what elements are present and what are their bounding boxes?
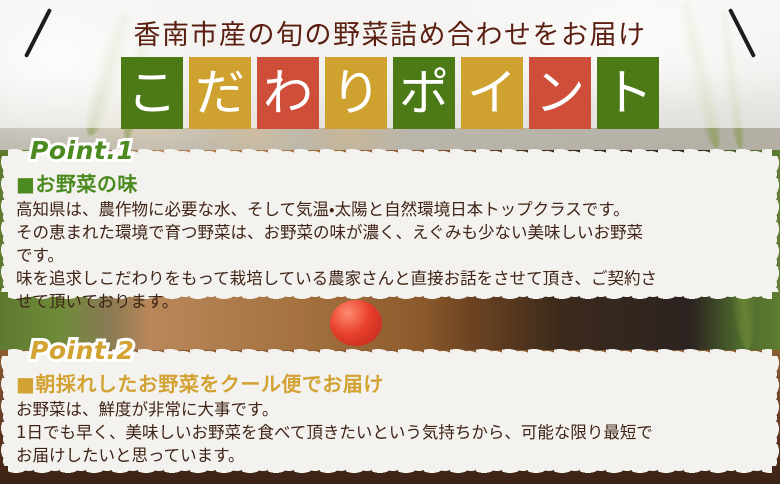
body-line-3: 味を追求しこだわりをもって栽培している農家さんと直接お話をさせて頂き、ご契約さ [16,267,768,290]
title-tile-7: ト [597,57,659,129]
body-line-0: 高知県は、農作物に必要な水、そして気温・太陽と自然環境日本トップクラスです。 [16,198,768,221]
point-label-2: Point.2 [30,336,134,365]
title-tile-row: こだわりポイント [0,57,780,129]
title-tile-4: ポ [393,57,455,129]
point-body-2: お野菜は、鮮度が非常に大事です。1日でも早く、美味しいお野菜を食べて頂きたいとい… [16,398,768,467]
promotional-banner: 香南市産の旬の野菜詰め合わせをお届け こだわりポイント Point.1 ■お野菜… [0,0,780,484]
torn-edge-left [0,156,10,292]
point-heading-1: ■お野菜の味 [16,168,138,197]
body-line-1: 1日でも早く、美味しいお野菜を食べて頂きたいという気持ちから、可能な限り最短で [16,421,768,444]
title-tile-3: り [325,57,387,129]
torn-edge-right [770,156,780,292]
body-line-4: せて頂いております。 [16,290,768,313]
title-tile-0: こ [121,57,183,129]
point-heading-2: ■朝採れしたお野菜をクール便でお届け [16,368,384,397]
title-tile-6: ン [529,57,591,129]
torn-edge-left [0,356,10,466]
torn-edge-right [770,356,780,466]
headline: 香南市産の旬の野菜詰め合わせをお届け [0,8,780,56]
body-line-2: お届けしたいと思っています。 [16,444,768,467]
body-line-2: です。 [16,244,768,267]
title-tile-1: だ [189,57,251,129]
body-line-0: お野菜は、鮮度が非常に大事です。 [16,398,768,421]
title-tile-5: イ [461,57,523,129]
headline-text: 香南市産の旬の野菜詰め合わせをお届け [134,13,647,52]
point-label-1: Point.1 [30,136,134,165]
body-line-1: その恵まれた環境で育つ野菜は、お野菜の味が濃く、えぐみも少ない美味しいお野菜 [16,221,768,244]
point-body-1: 高知県は、農作物に必要な水、そして気温・太陽と自然環境日本トップクラスです。その… [16,198,768,313]
title-tile-2: わ [257,57,319,129]
